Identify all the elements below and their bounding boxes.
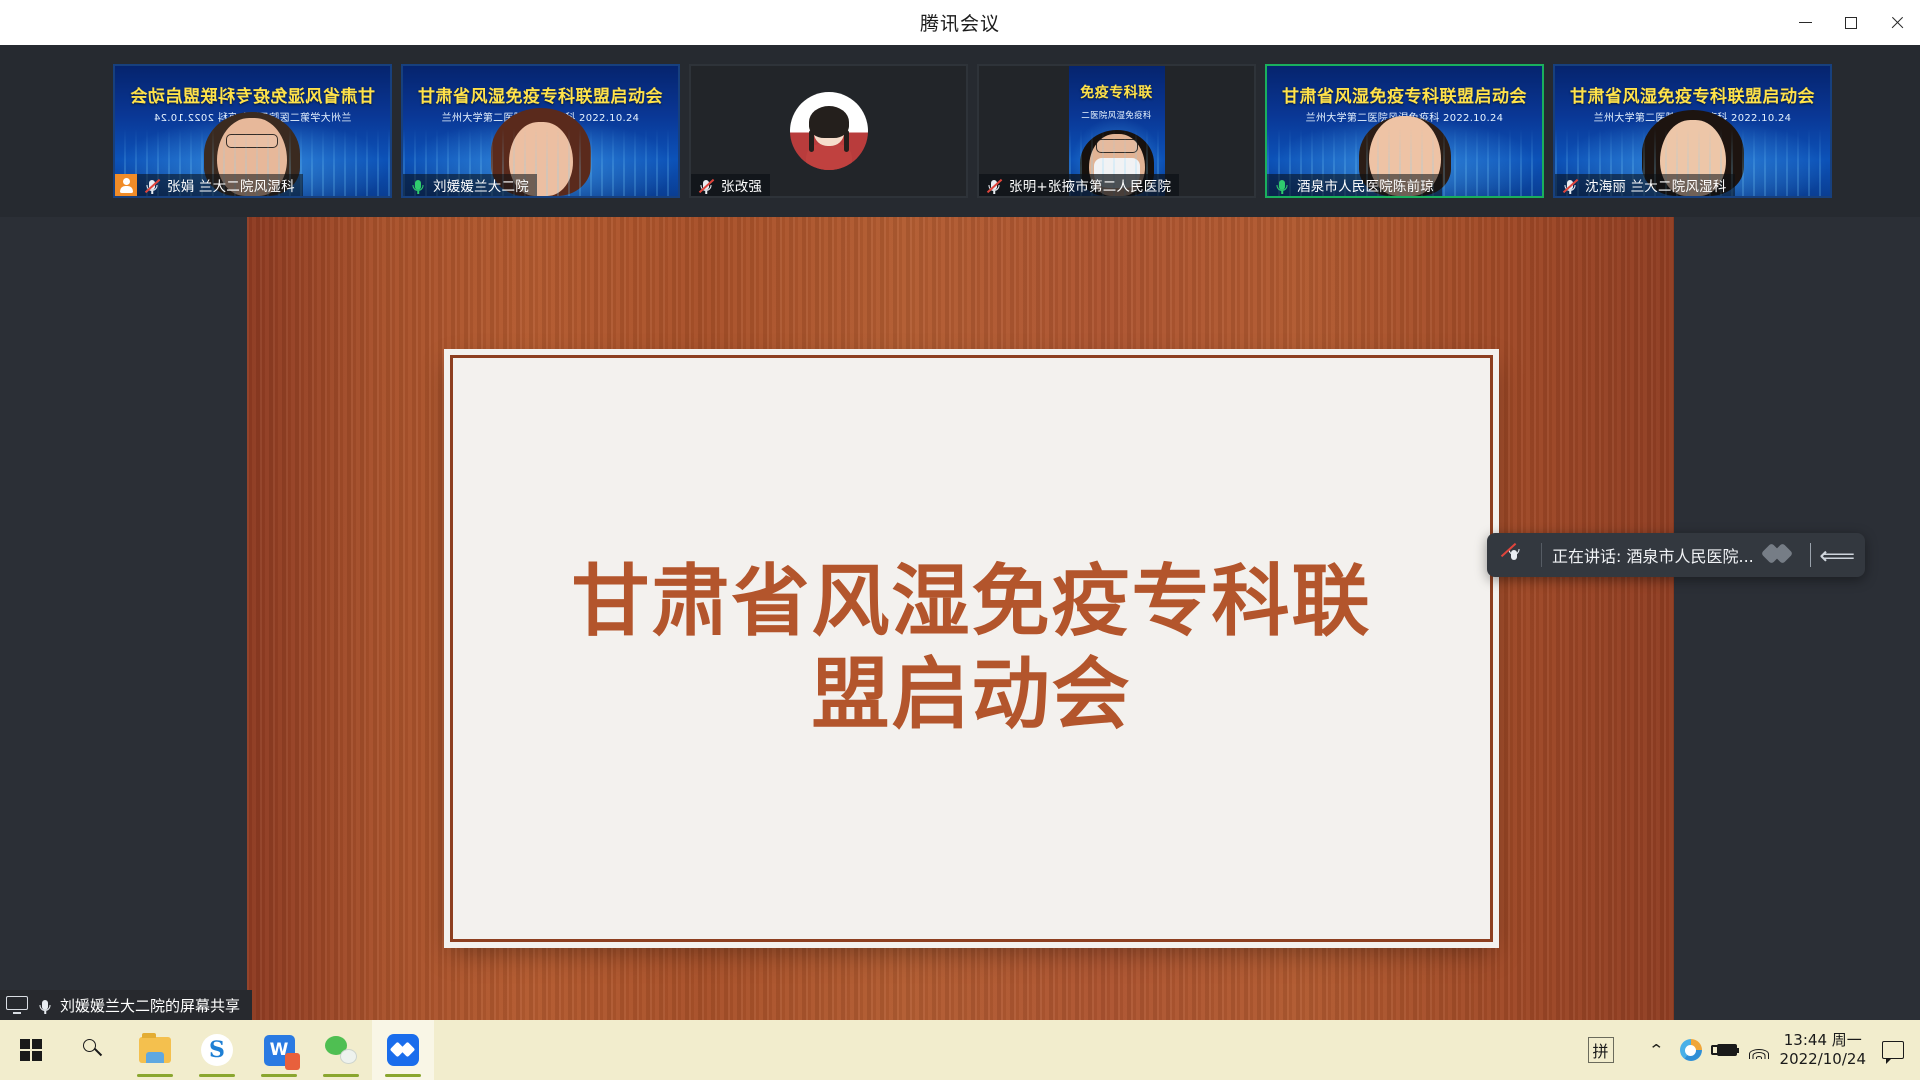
banner-title: 甘肃省风湿免疫专科联盟启动会 [1267, 82, 1542, 107]
sogou-browser-button[interactable]: S [186, 1020, 248, 1080]
participant-name-bar: 张改强 [691, 174, 770, 196]
banner-title: 免疫专科联 [1069, 82, 1165, 102]
maximize-icon [1845, 17, 1857, 29]
minimize-icon [1799, 22, 1812, 23]
notification-icon[interactable] [1882, 1041, 1904, 1059]
participant-name: 刘媛媛兰大二院 [433, 175, 529, 195]
host-badge-icon [115, 174, 137, 196]
wps-office-button[interactable]: W [248, 1020, 310, 1080]
shared-screen-stage: 甘肃省风湿免疫专科联盟启动会 正在讲话: 酒泉市人民医院... ⟸ 刘媛媛兰大二… [0, 217, 1920, 1020]
minimize-button[interactable] [1782, 0, 1828, 45]
folder-icon [139, 1037, 171, 1063]
wechat-button[interactable] [310, 1020, 372, 1080]
search-icon [81, 1038, 105, 1062]
participant-name-bar: 张娟 兰大二院风湿科 [115, 174, 303, 196]
chevron-up-icon[interactable]: ⌃ [1640, 1020, 1674, 1080]
participant-tile-active-speaker[interactable]: 甘肃省风湿免疫专科联盟启动会 兰州大学第二医院风湿免疫科 2022.10.24 … [1265, 64, 1544, 198]
participant-name-bar: 沈海丽 兰大二院风湿科 [1555, 174, 1735, 196]
wps-icon: W [264, 1035, 295, 1066]
toolbar-divider [1810, 543, 1812, 567]
close-icon [1890, 16, 1904, 30]
battery-charging-icon[interactable] [1708, 1020, 1742, 1080]
window-controls [1782, 0, 1920, 45]
screen-share-icon [6, 996, 28, 1014]
participant-filmstrip[interactable]: 甘肃省风湿免疫专科联盟启动会 兰州大学第二医院风湿免疫科 2022.10.24 … [0, 45, 1920, 217]
banner-title: 甘肃省风湿免疫专科联盟启动会 [1555, 82, 1830, 107]
mic-on-icon [1271, 174, 1293, 196]
active-speaker-label: 正在讲话: 酒泉市人民医院... [1552, 543, 1754, 567]
participant-name-bar: 张明+张掖市第二人民医院 [979, 174, 1179, 196]
clock-date: 2022/10/24 [1780, 1050, 1866, 1069]
tencent-meeting-button[interactable] [372, 1020, 434, 1080]
banner-subtitle: 二医院风湿免疫科 [1069, 109, 1165, 121]
clock[interactable]: 13:44 周一 2022/10/24 [1776, 1031, 1876, 1069]
screen-share-label: 刘媛媛兰大二院的屏幕共享 [60, 995, 240, 1016]
shared-screen-content[interactable]: 甘肃省风湿免疫专科联盟启动会 [247, 217, 1674, 1020]
participant-tile[interactable]: 甘肃省风湿免疫专科联盟启动会 兰州大学第二医院风湿免疫科 2022.10.24 … [1553, 64, 1832, 198]
wechat-icon [325, 1036, 357, 1064]
participant-name: 张改强 [721, 175, 762, 195]
banner-title: 甘肃省风湿免疫专科联盟启动会 [115, 82, 390, 107]
mic-on-icon [34, 994, 56, 1016]
wifi-icon[interactable] [1742, 1020, 1776, 1080]
presentation-slide: 甘肃省风湿免疫专科联盟启动会 [450, 355, 1493, 942]
window-title-bar: 腾讯会议 [0, 0, 1920, 45]
screen-share-indicator: 刘媛媛兰大二院的屏幕共享 [0, 990, 252, 1020]
active-speaker-toolbar[interactable]: 正在讲话: 酒泉市人民医院... ⟸ [1487, 533, 1865, 577]
mic-muted-icon[interactable] [1497, 538, 1531, 572]
banner-title: 甘肃省风湿免疫专科联盟启动会 [403, 82, 678, 107]
participant-tile[interactable]: 甘肃省风湿免疫专科联盟启动会 兰州大学第二医院风湿免疫科 2022.10.24 … [401, 64, 680, 198]
mic-muted-icon [1559, 174, 1581, 196]
maximize-button[interactable] [1828, 0, 1874, 45]
sogou-icon: S [201, 1034, 233, 1066]
tencent-meeting-icon [387, 1034, 419, 1066]
close-button[interactable] [1874, 0, 1920, 45]
glasses-icon [227, 134, 279, 148]
mic-on-icon [407, 174, 429, 196]
participant-name: 张明+张掖市第二人民医院 [1009, 175, 1171, 195]
participant-name: 沈海丽 兰大二院风湿科 [1585, 175, 1727, 195]
sogou-cloud-icon[interactable] [1674, 1020, 1708, 1080]
slide-title: 甘肃省风湿免疫专科联盟启动会 [572, 556, 1372, 740]
system-tray[interactable]: 拼 ⌃ 13:44 周一 2022/10/24 [1588, 1020, 1920, 1080]
glasses-icon [1096, 139, 1138, 153]
tencent-meeting-logo-icon [1764, 542, 1798, 568]
ime-indicator[interactable]: 拼 [1588, 1037, 1614, 1063]
windows-taskbar[interactable]: S W 拼 ⌃ 13:44 周一 2022/10/24 [0, 1020, 1920, 1080]
participant-tile[interactable]: 免疫专科联 二医院风湿免疫科 张明+张掖市第二人民医院 [977, 64, 1256, 198]
search-button[interactable] [62, 1020, 124, 1080]
mic-muted-icon [695, 174, 717, 196]
toolbar-divider [1541, 543, 1542, 567]
start-button[interactable] [0, 1020, 62, 1080]
participant-tile[interactable]: 张改强 [689, 64, 968, 198]
participant-name-bar: 酒泉市人民医院陈前琼 [1267, 174, 1442, 196]
participant-tile[interactable]: 甘肃省风湿免疫专科联盟启动会 兰州大学第二医院风湿免疫科 2022.10.24 … [113, 64, 392, 198]
windows-logo-icon [20, 1039, 42, 1061]
participant-name: 张娟 兰大二院风湿科 [167, 175, 295, 195]
back-arrow-icon[interactable]: ⟸ [1819, 543, 1855, 568]
participant-name: 酒泉市人民医院陈前琼 [1297, 175, 1434, 195]
mic-muted-icon [141, 174, 163, 196]
clock-time: 13:44 周一 [1780, 1031, 1866, 1050]
participant-name-bar: 刘媛媛兰大二院 [403, 174, 537, 196]
avatar [790, 92, 868, 170]
file-explorer-button[interactable] [124, 1020, 186, 1080]
app-title: 腾讯会议 [920, 9, 1000, 36]
mic-muted-icon [983, 174, 1005, 196]
